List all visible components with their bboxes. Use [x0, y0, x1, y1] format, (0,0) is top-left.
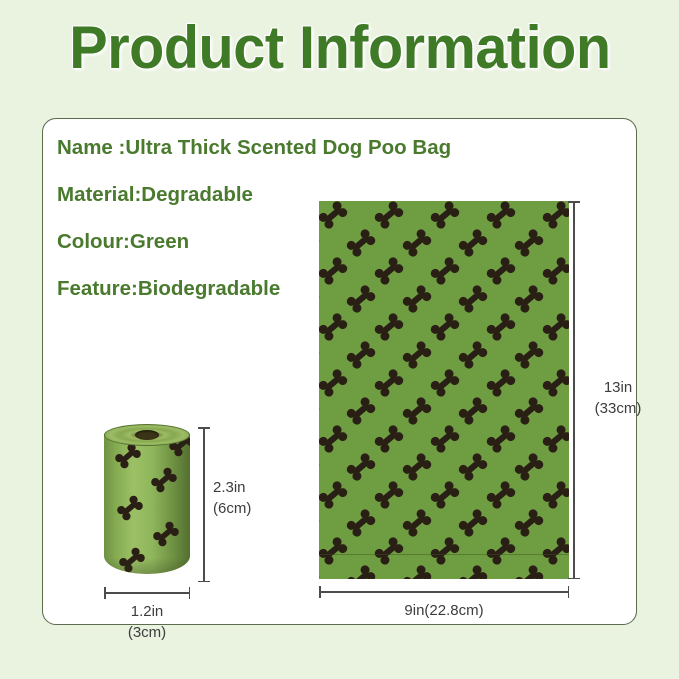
bag-width-label: 9in(22.8cm) [319, 600, 569, 621]
roll-width-label: 1.2in (3cm) [87, 601, 207, 643]
bag-height-imperial: 13in [583, 377, 653, 398]
roll-core-hole [135, 430, 159, 440]
bone-pattern-icon [319, 201, 569, 579]
roll-height-label: 2.3in (6cm) [213, 477, 293, 519]
roll-width-dimension-line [104, 592, 190, 594]
roll-body [104, 434, 190, 574]
bag-height-label: 13in (33cm) [583, 377, 653, 419]
bag-width-value: 9in(22.8cm) [319, 600, 569, 621]
bag-bottom-seam [319, 554, 569, 555]
bag-width-dimension-line [319, 591, 569, 593]
product-info-card: Name :Ultra Thick Scented Dog Poo Bag Ma… [42, 118, 637, 625]
poo-bag-illustration [319, 201, 569, 579]
page-title: Product Information [69, 14, 610, 82]
page-title-container: Product Information [0, 14, 679, 82]
roll-width-imperial: 1.2in [87, 601, 207, 622]
roll-height-dimension-line [203, 427, 205, 582]
bag-roll-illustration [104, 424, 190, 584]
roll-height-metric: (6cm) [213, 498, 293, 519]
bag-height-metric: (33cm) [583, 398, 653, 419]
roll-height-imperial: 2.3in [213, 477, 293, 498]
roll-bone-pattern-icon [104, 434, 190, 574]
roll-bottom-shading [104, 558, 190, 574]
spec-row-name: Name :Ultra Thick Scented Dog Poo Bag [57, 137, 527, 158]
bag-height-dimension-line [573, 201, 575, 579]
roll-width-metric: (3cm) [87, 622, 207, 643]
